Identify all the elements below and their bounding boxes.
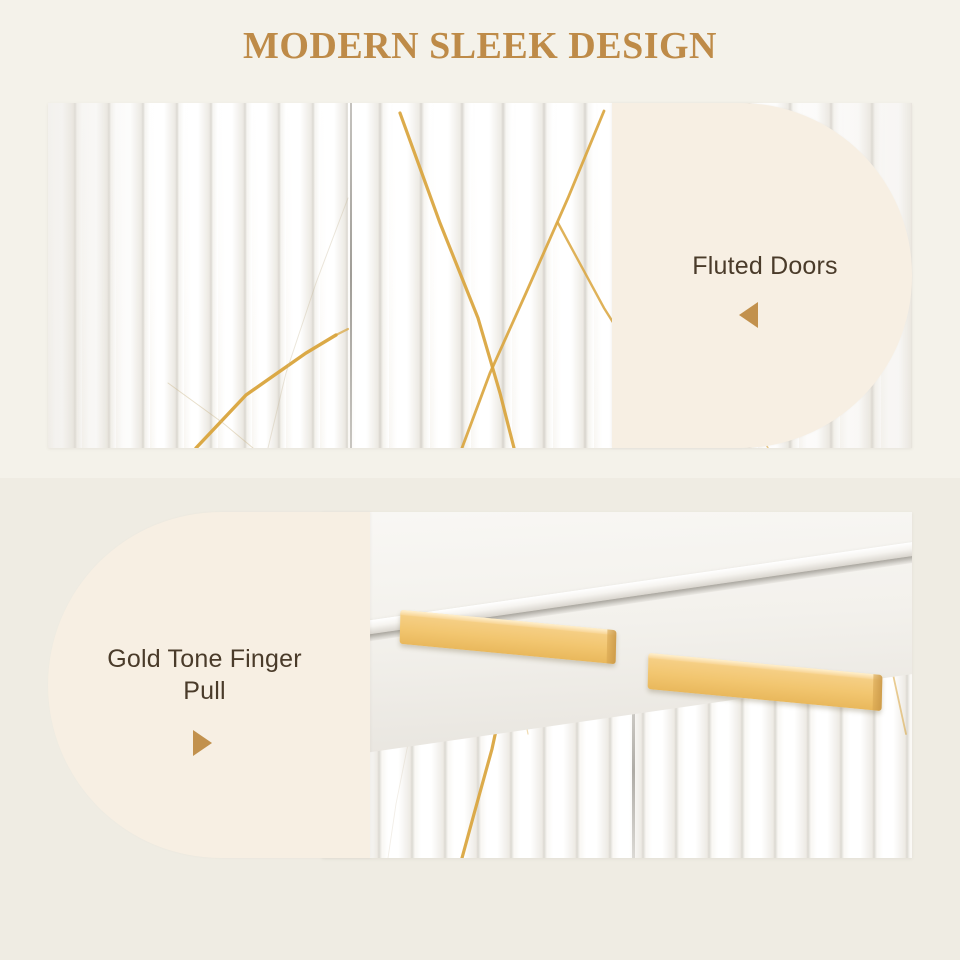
arrow-left-icon — [739, 302, 758, 328]
gold-finger-pull-label-line1: Gold Tone Finger — [107, 645, 302, 673]
page-title: MODERN SLEEK DESIGN — [0, 24, 960, 68]
handle-end-cap — [873, 674, 883, 711]
product-feature-page: MODERN SLEEK DESIGN Fluted Doors — [0, 0, 960, 960]
gold-finger-pull-photo — [322, 512, 912, 858]
handle-end-cap — [607, 629, 617, 664]
gold-finger-pull-label-line2: Pull — [183, 677, 226, 705]
arrow-right-icon — [193, 730, 212, 756]
gold-finger-pull-label: Gold Tone Finger Pull — [72, 643, 337, 707]
fluted-doors-label: Fluted Doors — [650, 250, 880, 282]
door-seam-top — [350, 103, 352, 448]
